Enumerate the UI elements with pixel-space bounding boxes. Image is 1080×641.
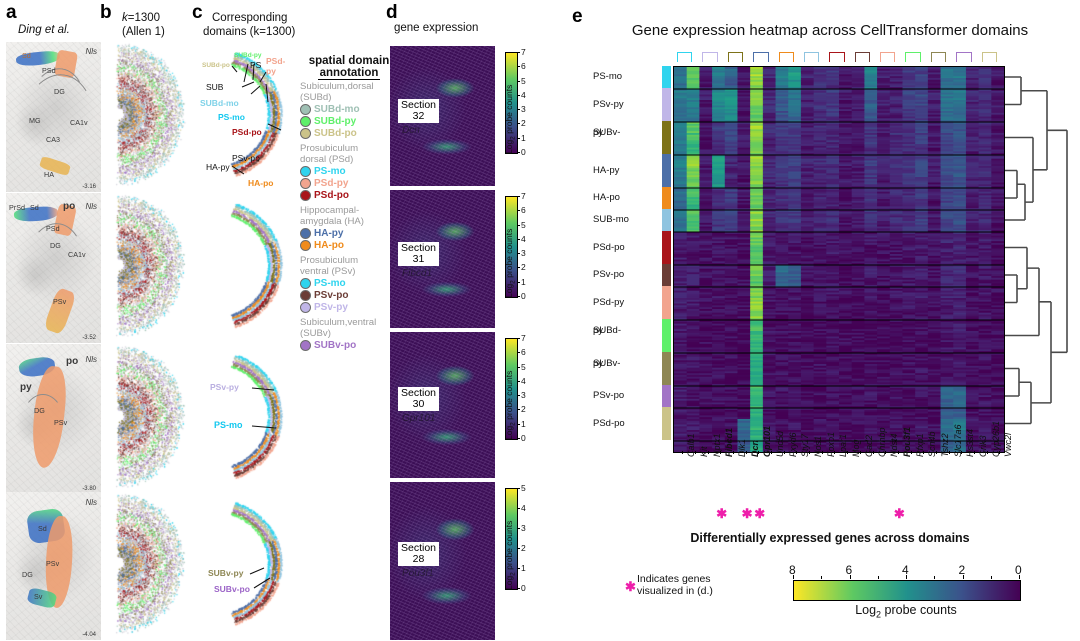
- panel-b-section-3: [104, 344, 190, 494]
- panel-a-section-3: po py DG PSv Nls -3.80: [6, 344, 101, 494]
- legend-item-label: PS-mo: [314, 278, 346, 289]
- legend-swatch-icon: [300, 228, 311, 239]
- colorbar-tick-label: 1: [521, 133, 526, 143]
- top-bracket-7: [855, 52, 870, 62]
- gene-tickmark: [771, 451, 772, 454]
- label-ca1v: CA1v: [68, 250, 86, 259]
- colorbar-minor-tickmark: [821, 576, 822, 579]
- label-sd: Sd: [38, 524, 47, 533]
- legend-swatch-icon: [300, 128, 311, 139]
- panel-c-section-1: SUBd-py SUBd-po PS PSd-py SUB SUBd-mo PS…: [196, 42, 294, 192]
- panel-b-letter: b: [100, 2, 112, 24]
- colorbar-tickmark: [517, 296, 520, 297]
- annotation-ps-mo: PS-mo: [214, 420, 243, 430]
- gene-name-label: Dcn: [402, 125, 420, 136]
- legend-swatch-icon: [300, 190, 311, 201]
- panel-c-title-line2: domains (k=1300): [203, 26, 295, 38]
- label-psv: PSv: [46, 559, 59, 568]
- colorbar-tickmark: [517, 352, 520, 353]
- legend-swatch-icon: [300, 178, 311, 189]
- gene-tickmark: [708, 451, 709, 454]
- legend-item-label: PSd-po: [314, 190, 349, 201]
- dendrogram-link: [1005, 248, 1027, 289]
- colorbar-tickmark: [517, 152, 520, 153]
- colorbar-tickmark: [517, 267, 520, 268]
- panel-c-section-3: PSv-py PS-mo: [196, 344, 294, 494]
- colorbar-tickmark: [517, 568, 520, 569]
- annotation-subd-po: SUBd-po: [202, 62, 230, 69]
- colorbar-tick-label: 4: [521, 376, 526, 386]
- colorbar-tickmark: [517, 424, 520, 425]
- section-label: Section30: [398, 387, 439, 411]
- legend-swatch-icon: [300, 166, 311, 177]
- label-dg: DG: [34, 406, 45, 415]
- panel-e-colorbar: [793, 580, 1021, 601]
- panel-b-section-2: [104, 193, 190, 343]
- colorbar-tick-label: 5: [521, 220, 526, 230]
- section-label-line2: 28: [401, 554, 436, 565]
- panel-d-section-30: Section30Gpr101: [390, 332, 495, 478]
- colorbar-tick-label: 3: [521, 248, 526, 258]
- star-icon: ✱: [625, 580, 636, 593]
- colorbar-tickmark: [1019, 575, 1020, 579]
- colorbar-minor-tickmark: [878, 576, 879, 579]
- coord-label: -4.04: [82, 632, 96, 638]
- row-group-color-psd-po: [662, 407, 671, 440]
- legend-item-label: HA-py: [314, 228, 343, 239]
- legend-item-label: SUBd-py: [314, 116, 356, 127]
- colorbar-tick-label: 0: [521, 291, 526, 301]
- colorbar-tickmark: [517, 253, 520, 254]
- colorbar-tick-label: 1: [521, 563, 526, 573]
- gene-name-label: Fibcd1: [402, 268, 432, 279]
- colorbar-tick-label: 4: [521, 234, 526, 244]
- row-group-color-ps-mo: [662, 66, 671, 88]
- legend-item-ps-mo[interactable]: PS-mo: [300, 277, 400, 289]
- domain-scatter-canvas: [196, 193, 294, 343]
- gene-tickmark: [822, 451, 823, 454]
- top-bracket-12: [982, 52, 997, 62]
- row-group-color-subd-py: [662, 319, 671, 352]
- colorbar-tickmark: [517, 239, 520, 240]
- row-group-color-ha-py: [662, 154, 671, 187]
- row-group-color-psv-py: [662, 88, 671, 121]
- row-group-color-psd-po: [662, 231, 671, 264]
- gene-tickmark: [682, 451, 683, 454]
- panel-a-title: Ding et al.: [18, 24, 70, 36]
- label-dg: DG: [54, 87, 65, 96]
- cell-scatter-canvas: [104, 492, 190, 640]
- colorbar-tickmark: [517, 210, 520, 211]
- star-marker-pou3f1: ✱: [894, 507, 905, 520]
- panel-d-section-31: Section31Fibcd1: [390, 190, 495, 328]
- panel-b-title-line1: kk=1300=1300: [122, 12, 160, 24]
- colorbar-tickmark: [517, 409, 520, 410]
- label-sd: Sd: [30, 203, 39, 212]
- legend-group-line1: Prosubiculum: [300, 256, 400, 267]
- panel-e-colorbar-title: Log2 probe counts: [793, 603, 1019, 620]
- legend-body: Subiculum,dorsal(SUBd)SUBd-moSUBd-pySUBd…: [300, 82, 400, 356]
- colorbar-tickmark: [517, 508, 520, 509]
- legend-swatch-icon: [300, 116, 311, 127]
- gene-label-dlk1: Dlk1: [737, 439, 747, 457]
- colorbar-tick-label: 6: [521, 347, 526, 357]
- colorbar-tick-label: 4: [521, 90, 526, 100]
- annotation-ha-py: HA-py: [206, 162, 230, 172]
- star-note: Indicates genes visualized in (d.): [637, 573, 713, 597]
- top-bracket-4: [779, 52, 794, 62]
- heatmap-canvas[interactable]: [673, 66, 1005, 453]
- gene-tickmark: [936, 451, 937, 454]
- top-bracket-5: [804, 52, 819, 62]
- top-bracket-10: [931, 52, 946, 62]
- colorbar-tick-label: 0: [521, 583, 526, 593]
- annotation-subd-py: SUBd-py: [234, 52, 261, 59]
- panel-d-section-28: Section28Pou3f1: [390, 482, 495, 640]
- section-label: Section28: [398, 542, 439, 566]
- colorbar-tick-label: 7: [521, 191, 526, 201]
- panel-e-title: Gene expression heatmap across CellTrans…: [600, 22, 1060, 39]
- colorbar-tickmark: [850, 575, 851, 579]
- colorbar-tickmark: [517, 95, 520, 96]
- gene-tickmark: [974, 451, 975, 454]
- dendrogram-link: [1005, 77, 1021, 105]
- legend-item-label: SUBv-po: [314, 340, 356, 351]
- legend-group-1: Prosubiculumdorsal (PSd)PS-moPSd-pyPSd-p…: [300, 144, 400, 201]
- colorbar-tickmark: [517, 196, 520, 197]
- legend-item-psv-po[interactable]: PSv-po: [300, 289, 400, 301]
- gene-tickmark: [695, 451, 696, 454]
- legend-swatch-icon: [300, 104, 311, 115]
- panel-c-section-2: [196, 193, 294, 343]
- label-psv: PSv: [53, 297, 66, 306]
- gene-tickmark: [733, 451, 734, 454]
- legend-group-4: Subiculum,ventral(SUBv)SUBv-po: [300, 318, 400, 351]
- legend-item-subd-po[interactable]: SUBd-po: [300, 127, 400, 139]
- gene-tickmark: [796, 451, 797, 454]
- gene-tickmark: [987, 451, 988, 454]
- gene-tickmark: [720, 451, 721, 454]
- star-marker-fibcd1: ✱: [716, 507, 727, 520]
- panel-e-letter: e: [572, 6, 583, 28]
- dendrogram-link: [1031, 302, 1051, 403]
- legend-group-line1: Hippocampal-: [300, 206, 400, 217]
- colorbar-tick-label: 5: [521, 483, 526, 493]
- gene-tickmark: [999, 451, 1000, 454]
- label-prsd: PrSd: [9, 203, 25, 212]
- colorbar-tick-label: 5: [521, 76, 526, 86]
- colorbar-tick-label: 2: [521, 118, 526, 128]
- colorbar-tickmark: [517, 381, 520, 382]
- annotation-ps: PS: [250, 60, 261, 70]
- gene-tickmark: [961, 451, 962, 454]
- row-group-color-psd-py: [662, 286, 671, 319]
- panel-a-section-2: PrSd Sd po PSd DG CA1v PSv Nls -3.52: [6, 193, 101, 343]
- label-mg: MG: [29, 116, 41, 125]
- colorbar-tickmark: [517, 395, 520, 396]
- legend-group-heading: Hippocampal-amygdala (HA): [300, 206, 400, 227]
- dendrogram-link: [1047, 130, 1067, 352]
- label-psv: PSv: [54, 418, 67, 427]
- colorbar-minor-tickmark: [991, 576, 992, 579]
- colorbar-minor-tickmark: [934, 576, 935, 579]
- gene-name-label: Gpr101: [402, 413, 435, 424]
- annotation-subd-mo: SUBd-mo: [200, 98, 239, 108]
- panel-b-section-1: [104, 42, 190, 192]
- legend-item-label: PSd-py: [314, 178, 348, 189]
- colorbar-tickmark: [517, 282, 520, 283]
- gene-tickmark: [834, 451, 835, 454]
- top-bracket-11: [956, 52, 971, 62]
- gene-tickmark: [898, 451, 899, 454]
- label-sv: Sv: [34, 592, 42, 601]
- legend-item-label: PSv-py: [314, 302, 348, 313]
- dendrogram-link: [1005, 382, 1031, 423]
- colorbar-tick-label: 2: [521, 404, 526, 414]
- panel-e-xaxis-title: Differentially expressed genes across do…: [610, 531, 1050, 545]
- top-bracket-6: [829, 52, 844, 62]
- legend-group-heading: Prosubiculumdorsal (PSd): [300, 144, 400, 165]
- label-py: py: [20, 382, 32, 393]
- legend-swatch-icon: [300, 340, 311, 351]
- legend-item-subd-py[interactable]: SUBd-py: [300, 115, 400, 127]
- legend-item-psd-po[interactable]: PSd-po: [300, 189, 400, 201]
- colorbar-tick-label: 3: [521, 104, 526, 114]
- colorbar-tickmark: [906, 575, 907, 579]
- dendrogram: [1003, 66, 1077, 451]
- label-ca1v: CA1v: [70, 118, 88, 127]
- panel-d-section-32: Section32Dcn: [390, 46, 495, 186]
- legend-item-label: SUBd-po: [314, 128, 357, 139]
- colorbar-tick-label: 1: [521, 277, 526, 287]
- row-group-color-subv-py: [662, 121, 671, 154]
- annotation-ps-mo: PS-mo: [218, 112, 245, 122]
- annotation-ha-po: HA-po: [248, 178, 274, 188]
- legend-group-heading: Subiculum,ventral(SUBv): [300, 318, 400, 339]
- gene-tickmark: [746, 451, 747, 454]
- colorbar-tick-label: 6: [521, 205, 526, 215]
- cell-scatter-canvas: [104, 344, 190, 494]
- annotation-subv-py: SUBv-py: [208, 568, 243, 578]
- colorbar-tickmark: [517, 109, 520, 110]
- annotation-subv-po: SUBv-po: [214, 584, 250, 594]
- label-po: po: [63, 201, 75, 212]
- colorbar-tickmark: [517, 548, 520, 549]
- colorbar-tickmark: [963, 575, 964, 579]
- section-label-line2: 32: [401, 111, 436, 122]
- colorbar-tickmark: [517, 66, 520, 67]
- gene-label-mog: Mog: [851, 439, 861, 457]
- colorbar-tick-label: 2: [521, 543, 526, 553]
- panel-c-title-line1: Corresponding: [212, 12, 287, 24]
- legend-group-line2: ventral (PSv): [300, 267, 400, 278]
- top-bracket-8: [880, 52, 895, 62]
- gene-tickmark: [885, 451, 886, 454]
- colorbar-tickmark: [517, 367, 520, 368]
- colorbar-tick-label: 4: [521, 503, 526, 513]
- gene-label-vwc2l: Vwc2l: [1003, 433, 1013, 457]
- panel-d-colorbar-title: Log2 probe counts: [504, 229, 517, 298]
- legend-group-line2: amygdala (HA): [300, 217, 400, 228]
- panel-a-section-1: Sd PSd DG MG CA3 CA1v HA Nls -3.16: [6, 42, 101, 192]
- label-psd: PSd: [42, 66, 56, 75]
- legend-swatch-icon: [300, 240, 311, 251]
- row-group-color-subv-py: [662, 352, 671, 385]
- colorbar-tick-label: 3: [521, 523, 526, 533]
- label-ha: HA: [44, 170, 54, 179]
- panel-c-letter: c: [192, 2, 203, 24]
- legend-item-label: SUBd-mo: [314, 104, 360, 115]
- gene-tickmark: [949, 451, 950, 454]
- top-bracket-3: [753, 52, 768, 62]
- row-group-color-psv-po: [662, 264, 671, 286]
- gene-tickmark: [860, 451, 861, 454]
- gene-tickmark: [809, 451, 810, 454]
- gene-tickmark: [911, 451, 912, 454]
- row-group-color-sub-mo: [662, 209, 671, 231]
- star-note-line1: Indicates genes: [637, 573, 713, 585]
- label-dg: DG: [50, 241, 61, 250]
- top-bracket-0: [677, 52, 692, 62]
- coord-label: -3.52: [82, 335, 96, 341]
- colorbar-tick-label: 0: [521, 433, 526, 443]
- legend-item-subv-po[interactable]: SUBv-po: [300, 339, 400, 351]
- cell-scatter-canvas: [104, 42, 190, 192]
- colorbar-tickmark: [517, 225, 520, 226]
- label-modality: Nls: [85, 355, 97, 364]
- legend-group-line1: Subiculum,dorsal: [300, 82, 400, 93]
- legend-item-ps-mo[interactable]: PS-mo: [300, 165, 400, 177]
- gene-tickmark: [784, 451, 785, 454]
- colorbar-tickmark: [517, 438, 520, 439]
- colorbar-tickmark: [517, 528, 520, 529]
- panel-d-letter: d: [386, 2, 398, 24]
- colorbar-tick-label: 7: [521, 333, 526, 343]
- panel-a-section-4: Sd PSv DG Sv Nls -4.04: [6, 492, 101, 640]
- colorbar-tick-label: 7: [521, 47, 526, 57]
- cell-scatter-canvas: [104, 193, 190, 343]
- legend-item-label: PSv-po: [314, 290, 348, 301]
- annotation-psd-po: PSd-po: [232, 127, 262, 137]
- section-label: Section32: [398, 99, 439, 123]
- dg-outline: [20, 394, 66, 462]
- colorbar-tick-label: 3: [521, 390, 526, 400]
- top-bracket-1: [702, 52, 717, 62]
- legend-swatch-icon: [300, 290, 311, 301]
- panel-d-colorbar-title: Log2 probe counts: [504, 521, 517, 590]
- legend-group-line2: dorsal (PSd): [300, 155, 400, 166]
- section-label: Section31: [398, 242, 439, 266]
- section-label-line2: 30: [401, 399, 436, 410]
- legend-group-line2: (SUBd): [300, 93, 400, 104]
- colorbar-tick-label: 5: [521, 362, 526, 372]
- legend-item-psd-py[interactable]: PSd-py: [300, 177, 400, 189]
- legend-swatch-icon: [300, 278, 311, 289]
- colorbar-tickmark: [517, 81, 520, 82]
- legend-group-heading: Prosubiculumventral (PSv): [300, 256, 400, 277]
- star-note-line2: visualized in (d.): [637, 585, 713, 597]
- row-group-color-psv-po: [662, 385, 671, 407]
- legend-item-psv-py[interactable]: PSv-py: [300, 301, 400, 313]
- top-bracket-2: [728, 52, 743, 62]
- section-label-line2: 31: [401, 254, 436, 265]
- panel-d-title: gene expression: [394, 22, 478, 34]
- annotation-psd-py: PSd-py: [266, 56, 294, 76]
- legend-item-subd-mo[interactable]: SUBd-mo: [300, 103, 400, 115]
- dendrogram-link: [1021, 91, 1047, 170]
- label-modality: Nls: [85, 202, 97, 211]
- colorbar-tickmark: [517, 138, 520, 139]
- legend-title-line2: annotation: [318, 67, 381, 80]
- colorbar-tickmark: [517, 123, 520, 124]
- panel-b-section-4: [104, 492, 190, 640]
- annotation-psv-po: PSv-po: [232, 153, 260, 163]
- label-modality: Nls: [85, 47, 97, 56]
- gene-tickmark: [847, 451, 848, 454]
- legend-item-ha-py[interactable]: HA-py: [300, 227, 400, 239]
- legend-title-line1: spatial domain: [300, 55, 398, 67]
- label-dg: DG: [22, 570, 33, 579]
- dendrogram-link: [1005, 184, 1025, 220]
- colorbar-tick-label: 1: [521, 419, 526, 429]
- legend-title: spatial domain annotation: [300, 55, 398, 80]
- gene-tickmark: [873, 451, 874, 454]
- legend-item-label: PS-mo: [314, 166, 346, 177]
- annotation-sub: SUB: [206, 82, 223, 92]
- gene-tickmark: [923, 451, 924, 454]
- legend-group-2: Hippocampal-amygdala (HA)HA-pyHA-po: [300, 206, 400, 251]
- gene-tickmark: [758, 451, 759, 454]
- annotation-leaders: [196, 492, 294, 640]
- gene-name-label: Pou3f1: [402, 568, 434, 579]
- top-bracket-9: [905, 52, 920, 62]
- star-marker-dcn: ✱: [742, 507, 753, 520]
- legend-item-label: HA-po: [314, 240, 344, 251]
- panel-b-title-line2: (Allen 1): [122, 26, 165, 38]
- colorbar-tickmark: [517, 588, 520, 589]
- label-psd: PSd: [46, 224, 60, 233]
- panel-c-section-4: SUBv-py SUBv-po: [196, 492, 294, 640]
- star-marker-gpr101: ✱: [754, 507, 765, 520]
- panel-a-letter: a: [6, 2, 17, 24]
- legend-group-line1: Prosubiculum: [300, 144, 400, 155]
- label-sd: Sd: [22, 51, 31, 60]
- label-modality: Nls: [85, 498, 97, 507]
- label-ca3: CA3: [46, 135, 60, 144]
- panel-d-colorbar-title: Log2 probe counts: [504, 85, 517, 154]
- legend-group-heading: Subiculum,dorsal(SUBd): [300, 82, 400, 103]
- dendrogram-link: [1005, 171, 1017, 199]
- legend-group-3: Prosubiculumventral (PSv)PS-moPSv-poPSv-…: [300, 256, 400, 313]
- legend-group-line1: Subiculum,ventral: [300, 318, 400, 329]
- row-group-color-ha-po: [662, 187, 671, 209]
- annotation-leaders: [196, 344, 294, 494]
- colorbar-tick-label: 0: [521, 147, 526, 157]
- legend-swatch-icon: [300, 302, 311, 313]
- dendrogram-link: [1005, 369, 1019, 397]
- legend-item-ha-po[interactable]: HA-po: [300, 239, 400, 251]
- colorbar-tickmark: [517, 338, 520, 339]
- gene-label-dcn: Dcn: [750, 440, 760, 457]
- colorbar-tickmark: [517, 488, 520, 489]
- colorbar-tickmark: [793, 575, 794, 579]
- dendrogram-link: [1005, 275, 1017, 303]
- annotation-psv-py: PSv-py: [210, 382, 239, 392]
- label-po: po: [66, 356, 78, 367]
- colorbar-tickmark: [517, 52, 520, 53]
- coord-label: -3.16: [82, 184, 96, 190]
- colorbar-tick-label: 2: [521, 262, 526, 272]
